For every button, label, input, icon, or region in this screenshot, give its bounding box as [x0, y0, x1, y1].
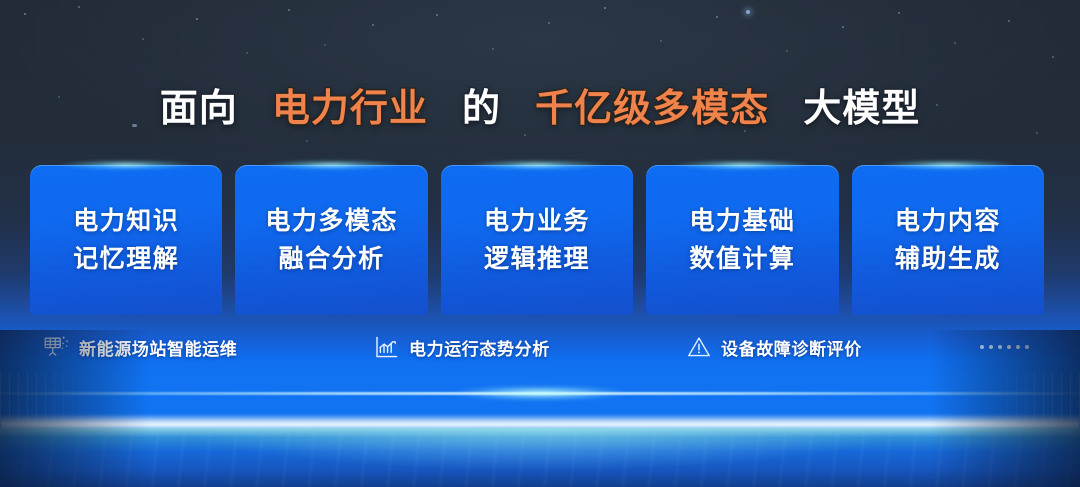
- horizon-beam-core-glow: [454, 386, 627, 400]
- card-1-line-2: 记忆理解: [73, 240, 179, 278]
- card-3-line-2: 逻辑推理: [484, 240, 590, 278]
- warning-triangle-icon: [686, 335, 712, 359]
- card-4-line-2: 数值计算: [689, 240, 795, 278]
- slide-title: 面向 电力行业 的 千亿级多模态 大模型: [0, 84, 1080, 132]
- title-segment-2-accent: 电力行业: [272, 86, 428, 132]
- card-3-line-1: 电力业务: [484, 202, 590, 240]
- capability-card-5[interactable]: 电力内容 辅助生成: [852, 165, 1044, 315]
- left-vignette: [0, 330, 150, 487]
- slide-canvas: 面向 电力行业 的 千亿级多模态 大模型 电力知识 记忆理解 电力多模态 融合分…: [0, 0, 1080, 487]
- sea-streak-texture: [0, 434, 1080, 487]
- application-tag-2[interactable]: 电力运行态势分析: [374, 335, 686, 360]
- card-2-line-1: 电力多模态: [265, 202, 398, 240]
- card-4-line-1: 电力基础: [689, 202, 795, 240]
- capability-card-2[interactable]: 电力多模态 融合分析: [235, 165, 427, 315]
- application-tag-2-label: 电力运行态势分析: [409, 335, 550, 360]
- application-tag-3-label: 设备故障诊断评价: [721, 335, 862, 360]
- title-segment-5: 大模型: [803, 86, 920, 132]
- right-vignette: [930, 330, 1080, 487]
- title-segment-1: 面向: [160, 86, 238, 132]
- title-segment-4-accent: 千亿级多模态: [535, 86, 769, 132]
- application-tag-row: 新能源场站智能运维 电力运行态势分析 设备故障诊断评价: [44, 330, 1050, 364]
- card-5-line-2: 辅助生成: [895, 240, 1001, 278]
- capability-card-1[interactable]: 电力知识 记忆理解: [30, 165, 222, 315]
- bar-chart-trend-icon: [374, 335, 400, 359]
- card-1-line-1: 电力知识: [73, 202, 179, 240]
- capability-card-3[interactable]: 电力业务 逻辑推理: [441, 165, 633, 315]
- capability-card-4[interactable]: 电力基础 数值计算: [646, 165, 838, 315]
- title-segment-3: 的: [462, 86, 501, 132]
- capability-card-row: 电力知识 记忆理解 电力多模态 融合分析 电力业务 逻辑推理 电力基础 数值计算…: [30, 165, 1044, 315]
- card-2-line-2: 融合分析: [279, 240, 385, 278]
- card-5-line-1: 电力内容: [895, 202, 1001, 240]
